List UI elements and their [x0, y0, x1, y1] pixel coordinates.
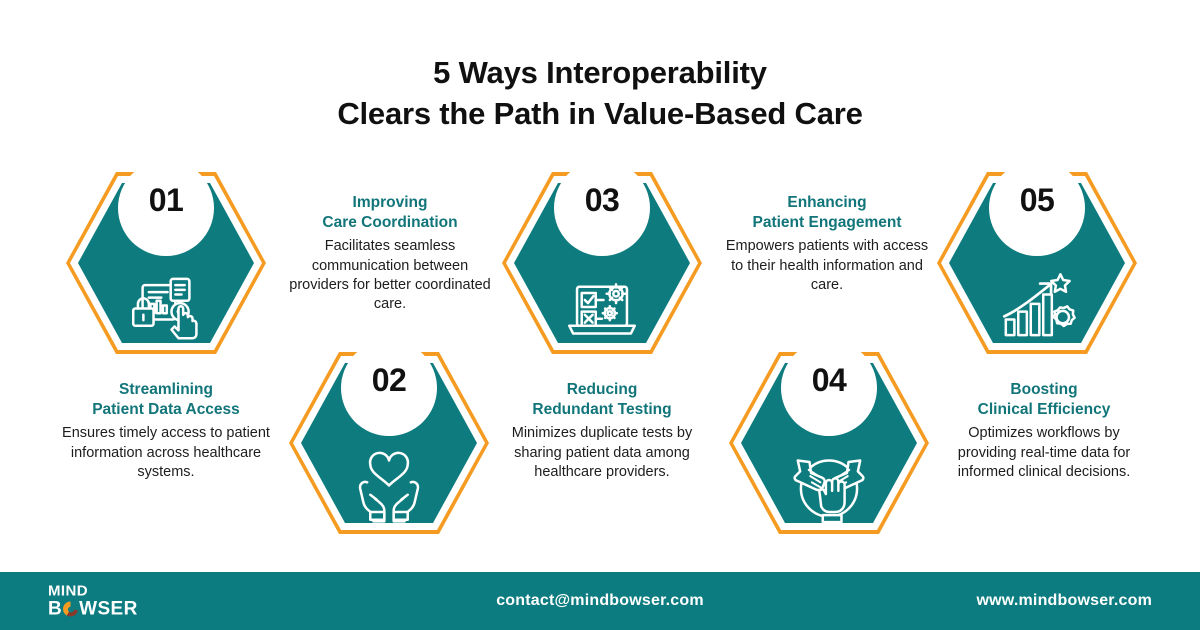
text-body-03: Minimizes duplicate tests by sharing pat… — [497, 424, 707, 482]
heading-line-1: Improving — [285, 193, 495, 213]
heading-line-1: Reducing — [497, 380, 707, 400]
text-heading-02: Improving Care Coordination — [285, 193, 495, 232]
heading-line-2: Clinical Efficiency — [939, 400, 1149, 420]
heading-line-2: Patient Data Access — [61, 400, 271, 420]
hands-together-teamwork-icon — [790, 448, 868, 526]
text-block-05: Boosting Clinical Efficiency Optimizes w… — [939, 380, 1149, 482]
hexagon-number-01: 01 — [149, 182, 184, 219]
text-block-02: Improving Care Coordination Facilitates … — [285, 193, 495, 314]
text-heading-04: Enhancing Patient Engagement — [722, 193, 932, 232]
footer-bar: MIND B WSER contact@mindbowser.com www.m… — [0, 572, 1200, 630]
hexagon-number-05: 05 — [1020, 182, 1055, 219]
heading-line-1: Enhancing — [722, 193, 932, 213]
hexagon-number-02: 02 — [372, 362, 407, 399]
laptop-checklist-gears-icon — [563, 268, 641, 346]
text-heading-03: Reducing Redundant Testing — [497, 380, 707, 419]
hands-holding-heart-icon — [350, 448, 428, 526]
hexagon-card-01: 01 — [66, 172, 266, 354]
heading-line-2: Redundant Testing — [497, 400, 707, 420]
text-heading-01: Streamlining Patient Data Access — [61, 380, 271, 419]
text-block-01: Streamlining Patient Data Access Ensures… — [61, 380, 271, 482]
text-block-04: Enhancing Patient Engagement Empowers pa… — [722, 193, 932, 295]
text-body-01: Ensures timely access to patient informa… — [61, 424, 271, 482]
hexagon-card-02: 02 — [289, 352, 489, 534]
text-body-05: Optimizes workflows by providing real-ti… — [939, 424, 1149, 482]
text-body-04: Empowers patients with access to their h… — [722, 237, 932, 295]
growth-chart-gear-star-icon — [998, 268, 1076, 346]
text-heading-05: Boosting Clinical Efficiency — [939, 380, 1149, 419]
hexagon-card-03: 03 — [502, 172, 702, 354]
hexagon-number-03: 03 — [585, 182, 620, 219]
infographic-board: 01 Improvin — [0, 0, 1200, 565]
hexagon-number-04: 04 — [812, 362, 847, 399]
hexagon-card-05: 05 — [937, 172, 1137, 354]
data-access-lock-icon — [127, 268, 205, 346]
heading-line-2: Patient Engagement — [722, 213, 932, 233]
heading-line-1: Boosting — [939, 380, 1149, 400]
footer-website[interactable]: www.mindbowser.com — [977, 592, 1152, 610]
hexagon-card-04: 04 — [729, 352, 929, 534]
text-block-03: Reducing Redundant Testing Minimizes dup… — [497, 380, 707, 482]
heading-line-2: Care Coordination — [285, 213, 495, 233]
text-body-02: Facilitates seamless communication betwe… — [285, 237, 495, 314]
heading-line-1: Streamlining — [61, 380, 271, 400]
